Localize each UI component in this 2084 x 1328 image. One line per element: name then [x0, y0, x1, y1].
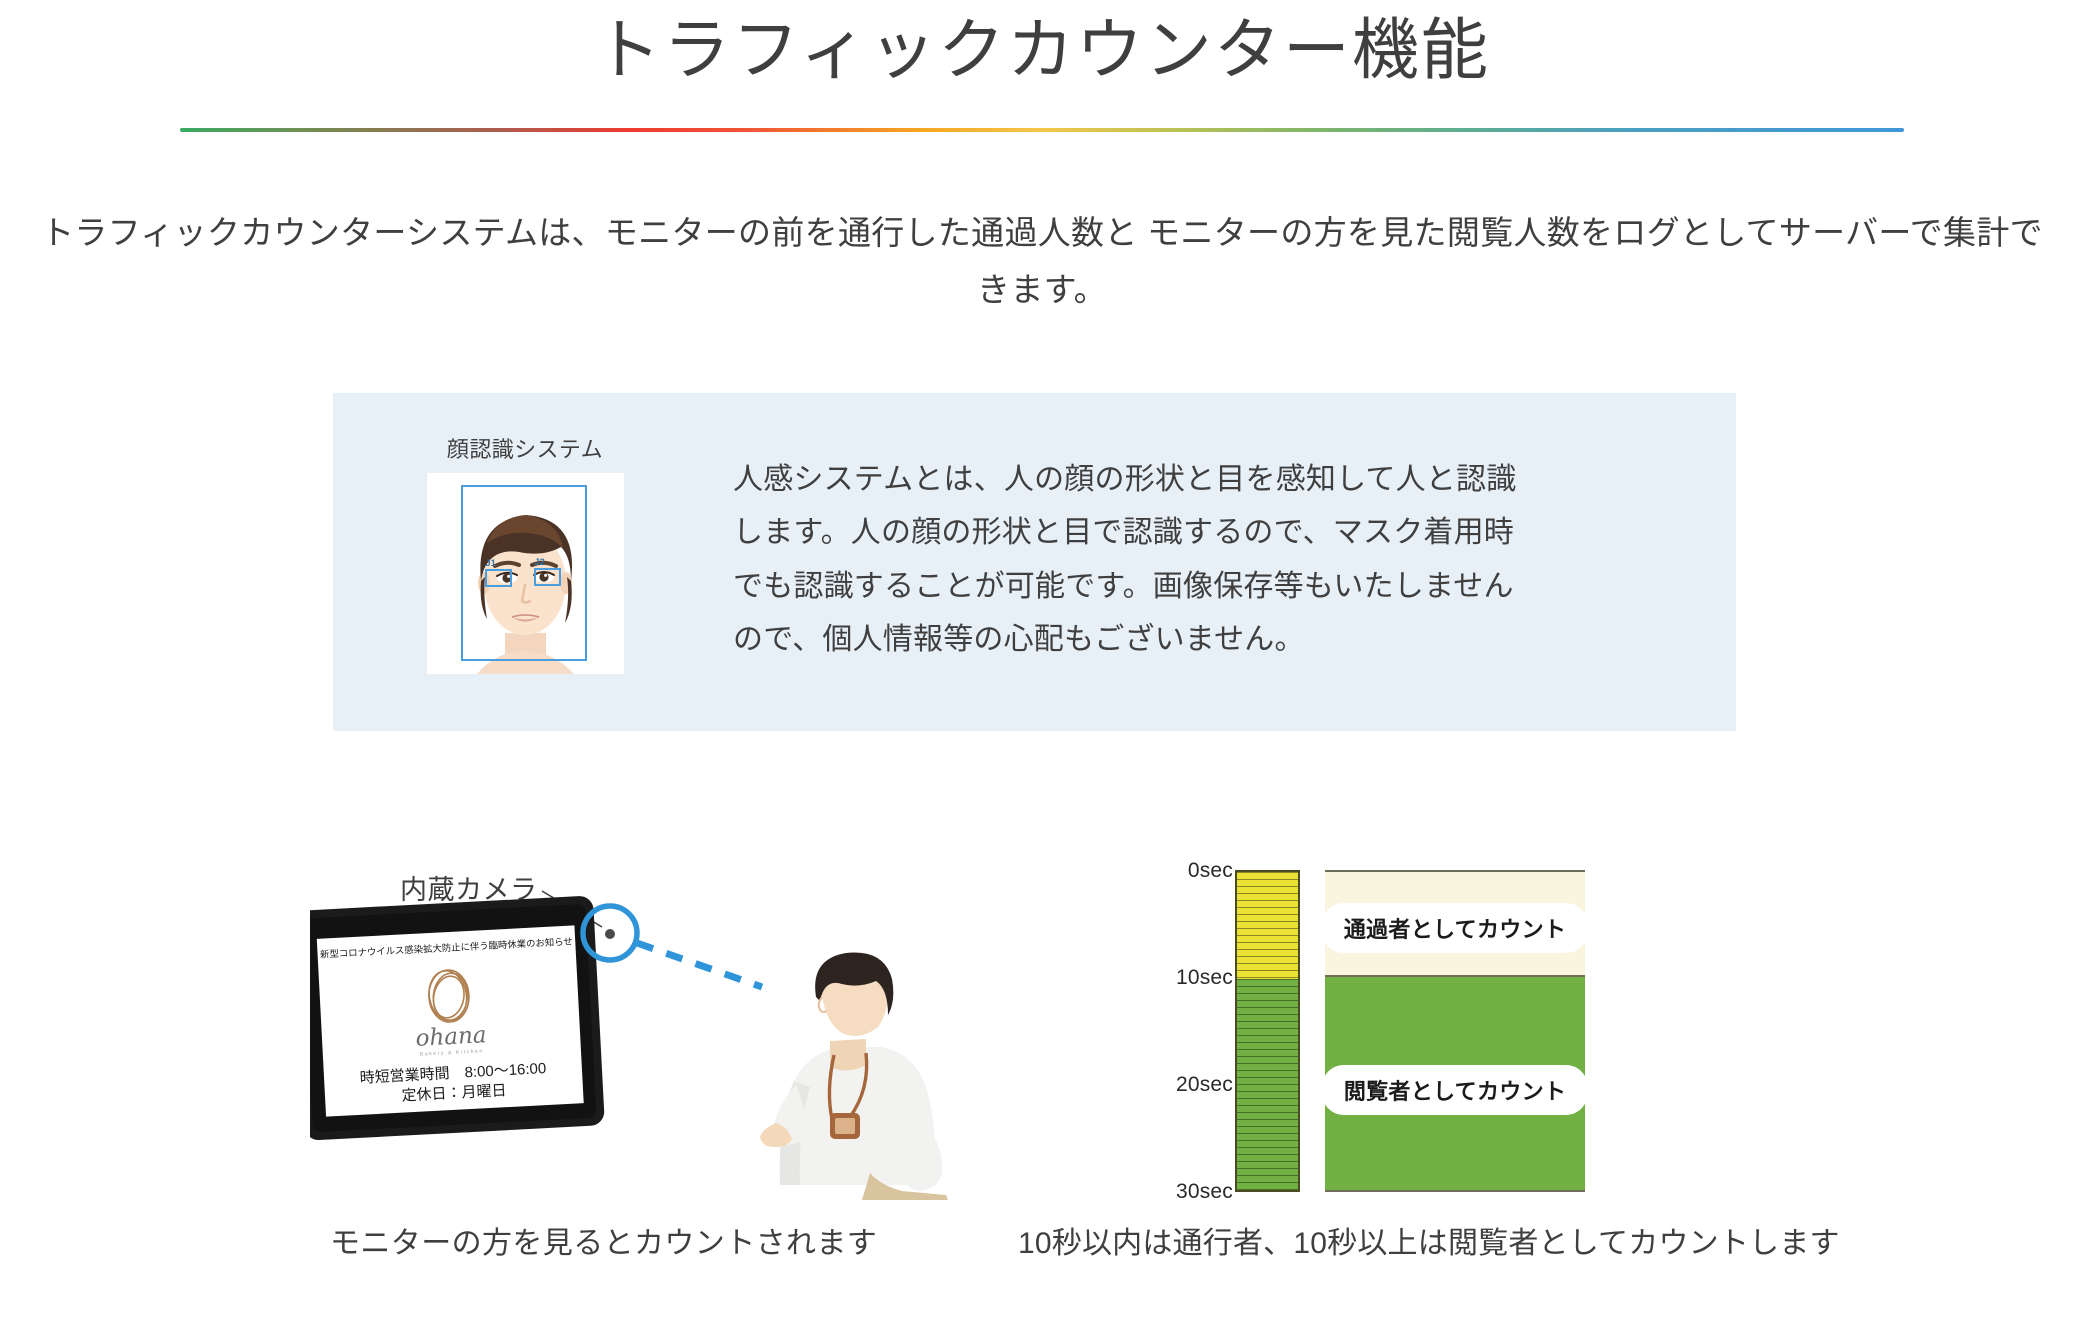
timeline-chart: 0sec 10sec 20sec 30sec 通過者としてカウント 閲覧者として… — [1155, 870, 1585, 1200]
timeline-bar — [1235, 870, 1300, 1192]
right-eye-detect-box — [534, 568, 561, 586]
face-recognition-description: 人感システムとは、人の顔の形状と目を感知して人と認識します。人の顔の形状と目で認… — [733, 453, 1543, 667]
page-title: トラフィックカウンター機能 — [0, 6, 2084, 96]
zone-passer: 通過者としてカウント — [1325, 870, 1585, 977]
monitor-illustration: 内蔵カメラ 新型コロナウイルス感染拡大防止に伴う臨時休業のお知らせ ohana — [310, 855, 990, 1200]
lead-paragraph: トラフィックカウンターシステムは、モニターの前を通行した通過人数と モニターの方… — [40, 205, 2044, 319]
timeline-bar-passer-segment — [1237, 872, 1298, 979]
axis-tick-20sec: 20sec — [1176, 1073, 1233, 1097]
axis-tick-0sec: 0sec — [1188, 859, 1233, 883]
timeline-bar-viewer-segment — [1237, 979, 1298, 1190]
axis-tick-10sec: 10sec — [1176, 966, 1233, 990]
zone-passer-badge: 通過者としてカウント — [1322, 903, 1588, 953]
right-eye-detect-label: J2 — [535, 557, 545, 567]
timeline-chart-caption: 10秒以内は通行者、10秒以上は閲覧者としてカウントします — [1018, 1218, 1840, 1262]
left-eye-detect-box — [485, 569, 512, 587]
axis-tick-30sec: 30sec — [1176, 1180, 1233, 1204]
face-detect-box — [461, 485, 587, 661]
monitor-and-person-graphic: 新型コロナウイルス感染拡大防止に伴う臨時休業のお知らせ ohana Bakery… — [310, 855, 990, 1200]
person-figure — [760, 953, 948, 1200]
left-eye-detect-label: J1 — [486, 558, 496, 568]
monitor-figure-caption: モニターの方を見るとカウントされます — [330, 1218, 877, 1262]
face-recognition-figure: 顔認識システム — [395, 432, 655, 674]
face-figure-caption: 顔認識システム — [395, 432, 655, 464]
face-photo: J1 J2 — [427, 473, 624, 674]
zone-viewer: 閲覧者としてカウント — [1325, 977, 1585, 1192]
sight-line — [637, 943, 762, 987]
title-divider — [180, 128, 1904, 132]
zone-viewer-badge: 閲覧者としてカウント — [1322, 1065, 1588, 1115]
face-recognition-panel: 顔認識システム — [333, 393, 1736, 731]
slide-page: トラフィックカウンター機能 トラフィックカウンターシステムは、モニターの前を通行… — [0, 0, 2084, 1328]
screen-logo-name: ohana — [415, 1022, 487, 1052]
